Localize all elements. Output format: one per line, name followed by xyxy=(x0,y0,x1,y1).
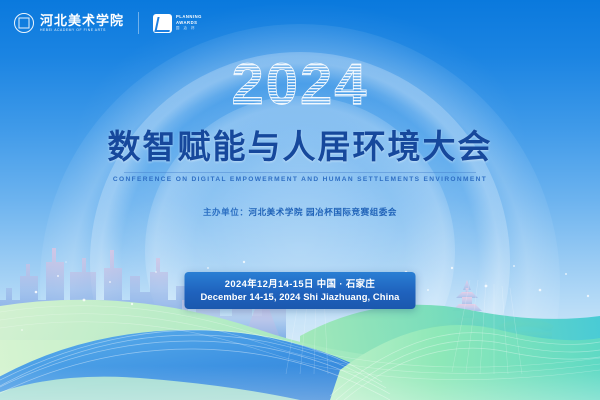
organizer-line: 主办单位：河北美术学院 园冶杯国际竞赛组委会 xyxy=(0,206,600,218)
header-logos: 河北美术学院 HEBEI ACADEMY OF FINE ARTS PLANNI… xyxy=(14,12,202,34)
organizer-label: 主办单位： xyxy=(203,207,249,217)
logo-divider xyxy=(138,12,139,34)
title-divider xyxy=(124,172,476,173)
school-name-cn: 河北美术学院 xyxy=(40,14,124,28)
page-title: 数智赋能与人居环境大会 xyxy=(0,126,600,167)
date-location-banner: 2024年12月14-15日 中国 · 石家庄 December 14-15, … xyxy=(185,272,416,309)
page-subtitle-en: CONFERENCE ON DIGITAL EMPOWERMENT AND HU… xyxy=(0,176,600,183)
seal-emblem-icon xyxy=(14,13,34,33)
school-logo[interactable]: 河北美术学院 HEBEI ACADEMY OF FINE ARTS xyxy=(14,13,124,33)
date-en: December 14-15, 2024 Shi Jiazhuang, Chin… xyxy=(201,291,400,304)
date-cn: 2024年12月14-15日 中国 · 石家庄 xyxy=(201,277,400,291)
organizer-value: 河北美术学院 园冶杯国际竞赛组委会 xyxy=(248,207,397,217)
year-2024-graphic: 2024 xyxy=(200,52,400,114)
conference-poster: 河北美术学院 HEBEI ACADEMY OF FINE ARTS PLANNI… xyxy=(0,0,600,400)
year-heading: 2024 xyxy=(0,52,600,119)
svg-text:2024: 2024 xyxy=(231,52,368,114)
awards-logo[interactable]: PLANNING AWARDS 园 冶 杯 xyxy=(153,14,202,33)
awards-name-cn: 园 冶 杯 xyxy=(176,27,202,30)
school-name-en: HEBEI ACADEMY OF FINE ARTS xyxy=(40,29,124,32)
planning-awards-mark-icon xyxy=(153,14,172,33)
